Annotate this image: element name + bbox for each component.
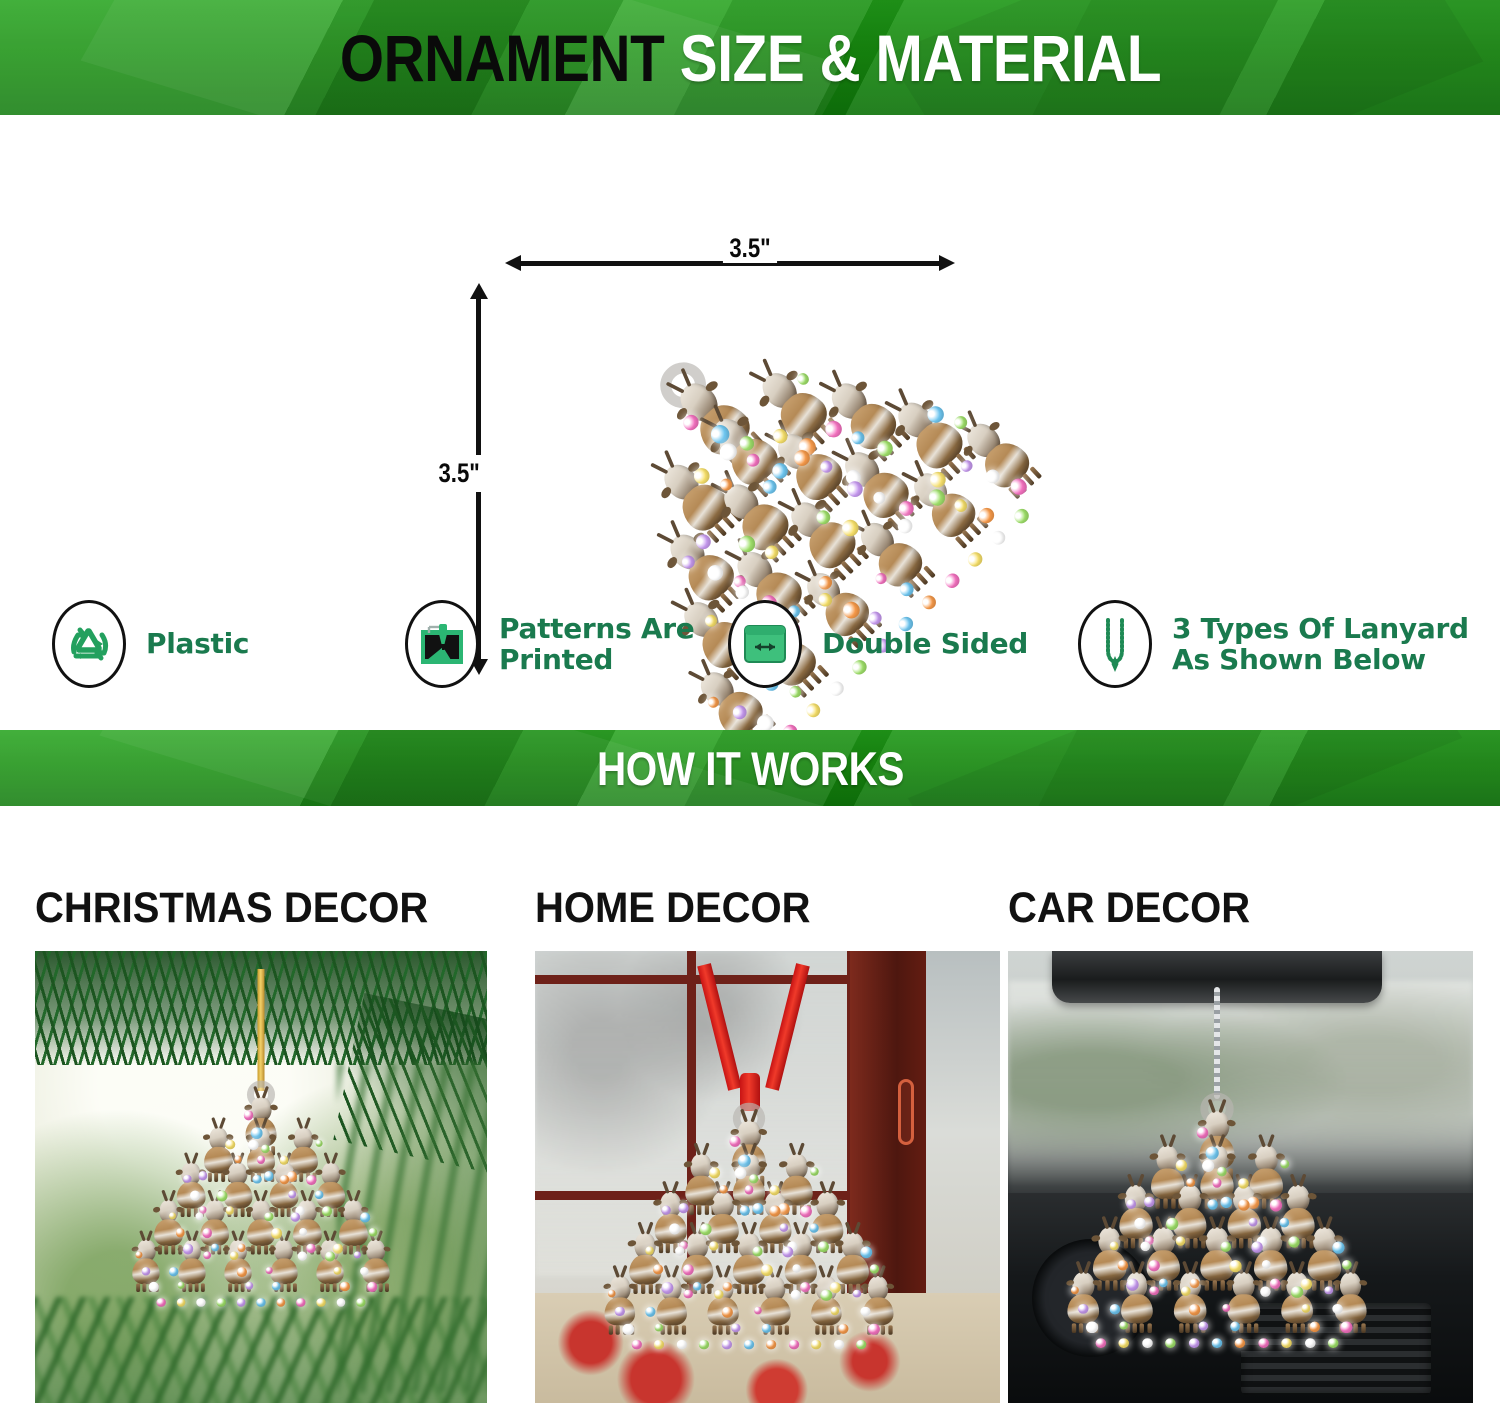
- goat-leg: [969, 522, 982, 535]
- goat-ear-left: [153, 1206, 161, 1212]
- goat-leg: [280, 1283, 284, 1292]
- christmas-light-bulb: [722, 1282, 731, 1291]
- goat-horn-left: [1101, 1215, 1109, 1229]
- christmas-light-bulb: [1235, 1338, 1245, 1348]
- goat-leg: [385, 1283, 389, 1292]
- goat-leg: [1262, 1198, 1266, 1208]
- goat-leg: [1163, 1198, 1167, 1208]
- christmas-light-bulb: [1291, 1286, 1303, 1298]
- gold-cord-hanger: [258, 969, 265, 1091]
- goat-ear-right: [731, 1283, 740, 1290]
- goat-horn-left: [161, 1190, 168, 1202]
- christmas-light-bulb: [818, 1241, 829, 1252]
- goat-leg: [615, 1325, 619, 1335]
- christmas-light-bulb: [1332, 1242, 1344, 1254]
- goat-horn-left: [139, 1230, 146, 1241]
- christmas-light-bulb: [237, 1244, 245, 1252]
- goat-ear-left: [809, 1283, 818, 1290]
- christmas-light-bulb: [821, 1289, 832, 1300]
- christmas-light-bulb: [1159, 1278, 1168, 1287]
- christmas-light-bulb: [1229, 1260, 1241, 1272]
- goat-horn-left: [664, 1265, 671, 1278]
- goat-leg: [241, 1283, 245, 1292]
- christmas-light-bulb: [369, 1228, 377, 1236]
- goat-horn-left: [1209, 1215, 1217, 1229]
- goat-horn-left: [749, 371, 767, 383]
- feature-plastic-label: Plastic: [146, 628, 249, 659]
- goat-ear-left: [705, 1199, 714, 1206]
- goat-leg: [1193, 1238, 1197, 1248]
- goat-horn-left: [231, 1230, 238, 1241]
- goat-leg: [1131, 1238, 1135, 1248]
- christmas-light-bulb: [789, 1339, 799, 1349]
- christmas-light-bulb: [288, 1191, 295, 1198]
- christmas-light-bulb: [1119, 1338, 1129, 1348]
- goat-horn-right: [797, 1142, 805, 1155]
- christmas-light-bulb: [761, 1323, 771, 1333]
- goat-ear-left: [1149, 1153, 1159, 1161]
- goat-ear-right: [813, 498, 827, 511]
- banner-size-material-title: ORNAMENTSIZE & MATERIAL: [339, 20, 1160, 96]
- goat-horn-left: [689, 1221, 697, 1234]
- christmas-light-bulb: [367, 1282, 377, 1292]
- card-car-decor: CAR DECOR: [1008, 884, 1473, 1403]
- goat-leg: [690, 1205, 694, 1215]
- goat-horn-right: [671, 1180, 679, 1193]
- goat-ear-right: [1359, 1279, 1368, 1286]
- goat-horn-right: [354, 1190, 361, 1202]
- goat-leg: [641, 1284, 645, 1294]
- goat-leg: [1247, 1323, 1251, 1333]
- goat-leg: [1240, 1238, 1244, 1248]
- goat-horn-left: [741, 1221, 749, 1234]
- recycle-icon: [52, 600, 126, 688]
- banner-how-it-works: HOW IT WORKS: [0, 730, 1500, 806]
- card-home-decor-title: HOME DECOR: [535, 884, 967, 933]
- christmas-light-bulb: [217, 1298, 226, 1307]
- christmas-light-bulb: [177, 1282, 184, 1289]
- christmas-light-bulb: [360, 1267, 369, 1276]
- christmas-light-bulb: [176, 1228, 185, 1237]
- christmas-light-bulb: [734, 1168, 746, 1180]
- goat-leg: [280, 1208, 284, 1217]
- christmas-light-bulb: [225, 1140, 235, 1150]
- goat-leg: [1254, 1323, 1258, 1333]
- goat-horn-left: [818, 382, 836, 394]
- goat-horn-left: [184, 1152, 191, 1164]
- christmas-light-bulb: [264, 1171, 274, 1181]
- christmas-light-bulb: [1190, 1278, 1200, 1288]
- goat-leg: [948, 461, 961, 475]
- goat-leg: [719, 1325, 723, 1335]
- christmas-light-bulb: [1305, 1338, 1315, 1348]
- goat-leg: [171, 1245, 175, 1254]
- lanyard-icon: [1078, 600, 1152, 688]
- christmas-light-bulb: [1186, 1178, 1195, 1187]
- goat-ear-left: [1248, 1153, 1258, 1161]
- goat-leg: [714, 523, 727, 537]
- christmas-light-bulb: [740, 1206, 750, 1216]
- goat-body: [759, 1297, 790, 1326]
- christmas-light-bulb: [830, 1306, 839, 1315]
- christmas-light-bulb: [197, 1298, 206, 1307]
- christmas-light-bulb: [655, 1323, 663, 1331]
- christmas-light-bulb: [1328, 1338, 1338, 1348]
- christmas-light-bulb: [780, 1224, 788, 1232]
- goat-ear-right: [1227, 1119, 1237, 1127]
- christmas-light-bulb: [615, 1306, 625, 1316]
- christmas-light-bulb: [661, 1206, 670, 1215]
- goat-horn-left: [1127, 1173, 1135, 1187]
- christmas-light-bulb: [1189, 1338, 1199, 1348]
- goat-horn-left: [819, 1180, 827, 1193]
- goat-leg: [257, 1245, 261, 1254]
- goat-leg: [822, 1325, 826, 1335]
- card-christmas-decor: CHRISTMAS DECOR: [35, 884, 487, 1403]
- christmas-light-bulb: [198, 1171, 207, 1180]
- goat-ear-left: [810, 1199, 819, 1206]
- christmas-light-bulb: [766, 1339, 776, 1349]
- feature-plastic: Plastic: [52, 600, 249, 688]
- goat-ear-right: [245, 1169, 253, 1175]
- christmas-light-bulb: [722, 1306, 733, 1317]
- christmas-light-bulb: [860, 1306, 870, 1316]
- goat-horn-left: [651, 463, 669, 475]
- goat-ear-left: [1280, 1279, 1289, 1286]
- goat-ear-left: [706, 1283, 715, 1290]
- christmas-light-bulb: [217, 1191, 228, 1202]
- christmas-light-bulb: [237, 1267, 247, 1277]
- christmas-light-bulb: [679, 1203, 689, 1213]
- christmas-light-bulb: [149, 1282, 159, 1292]
- christmas-light-bulb: [760, 1264, 772, 1276]
- goat-horn-left: [844, 1221, 852, 1234]
- goat-leg: [1140, 1323, 1144, 1333]
- goat-leg: [831, 1243, 835, 1253]
- goat-ear-left: [222, 1169, 230, 1175]
- goat-ear-left: [1091, 1235, 1101, 1243]
- goat-leg: [333, 1283, 337, 1292]
- christmas-light-bulb: [336, 1298, 345, 1307]
- card-christmas-decor-title: CHRISTMAS DECOR: [35, 884, 455, 933]
- goat-ear-right: [1253, 1279, 1262, 1286]
- christmas-light-bulb: [800, 1282, 810, 1292]
- christmas-light-bulb: [251, 1127, 262, 1138]
- christmas-light-bulb: [296, 1298, 305, 1307]
- goat-ear-right: [731, 1199, 740, 1206]
- christmas-light-bulb: [234, 1155, 241, 1162]
- goat-ear-right: [1199, 1192, 1209, 1200]
- christmas-light-bulb: [942, 571, 962, 591]
- christmas-light-bulb: [1325, 1286, 1333, 1294]
- goat-ear-left: [203, 1134, 211, 1140]
- goat-leg: [648, 1284, 652, 1294]
- goat-ear-left: [315, 1169, 323, 1175]
- goat-leg: [1194, 1323, 1198, 1333]
- goat-horn-left: [1262, 1215, 1270, 1229]
- goat-ear-right: [783, 1283, 792, 1290]
- goat-horn-left: [1155, 1215, 1163, 1229]
- double-sided-icon: [728, 600, 802, 688]
- goat-leg: [299, 1173, 303, 1182]
- goat-ear-left: [1280, 1192, 1290, 1200]
- christmas-light-bulb: [790, 1289, 801, 1300]
- card-home-decor: HOME DECOR: [535, 884, 1000, 1403]
- goat-horn-right: [1267, 1134, 1275, 1148]
- goat-leg: [214, 1173, 218, 1182]
- christmas-light-bulb: [1166, 1218, 1178, 1230]
- goat-leg: [1186, 1323, 1190, 1333]
- goat-ear-left: [245, 1206, 253, 1212]
- goat-leg: [718, 1243, 722, 1253]
- christmas-light-bulb: [203, 1251, 211, 1259]
- christmas-light-bulb: [1199, 1321, 1208, 1330]
- feature-double-sided-label: Double Sided: [822, 628, 1028, 659]
- christmas-light-bulb: [1343, 1260, 1353, 1270]
- goat-ear-right: [176, 1206, 184, 1212]
- christmas-light-bulb: [353, 1251, 360, 1258]
- christmas-light-bulb: [202, 1228, 212, 1238]
- goat-ear-right: [628, 1283, 637, 1290]
- goat-horn-right: [1218, 1215, 1226, 1229]
- christmas-light-bulb: [731, 1323, 740, 1332]
- goat-leg: [1185, 1238, 1189, 1248]
- christmas-light-bulb: [1142, 1338, 1152, 1348]
- goat-horn-left: [612, 1265, 619, 1278]
- christmas-light-bulb: [860, 1247, 872, 1259]
- goat-leg: [785, 1325, 789, 1335]
- christmas-light-bulb: [752, 1203, 763, 1214]
- christmas-light-bulb: [853, 1289, 861, 1297]
- banner-how-it-works-title: HOW IT WORKS: [597, 741, 904, 796]
- goat-ear-left: [861, 1283, 870, 1290]
- goat-horn-right: [238, 1230, 245, 1241]
- goat-ear-right: [746, 480, 760, 493]
- goat-ear-right: [988, 420, 1002, 432]
- goat-horn-right: [330, 1230, 337, 1241]
- goat-horn-right: [1244, 1261, 1252, 1274]
- goat-horn-right: [1191, 1261, 1199, 1274]
- goat-horn-right: [670, 520, 681, 538]
- christmas-light-bulb: [675, 1247, 684, 1256]
- goat-leg: [726, 1243, 730, 1253]
- goat-leg: [1079, 1323, 1083, 1333]
- goat-leg: [188, 1283, 192, 1292]
- goat-ear-left: [683, 1161, 692, 1168]
- dimension-diagram: 3.5" 3.5": [0, 115, 1500, 585]
- banner-word-size-material: SIZE & MATERIAL: [679, 21, 1160, 95]
- goat-leg: [1221, 1280, 1225, 1290]
- goat-horn-right: [1325, 1215, 1333, 1229]
- goat-leg: [187, 1208, 191, 1217]
- goat-ear-left: [1199, 1235, 1209, 1243]
- goat-leg: [752, 1284, 756, 1294]
- christmas-light-bulb: [340, 1282, 349, 1291]
- feature-patterns-printed: Patterns Are Printed: [405, 600, 705, 688]
- goat-horn-left: [1316, 1215, 1324, 1229]
- goat-horn-left: [637, 1221, 645, 1234]
- feature-double-sided: Double Sided: [728, 600, 1028, 688]
- goat-horn-right: [828, 1180, 836, 1193]
- goat-horn-right: [304, 1117, 311, 1129]
- christmas-light-bulb: [307, 1244, 316, 1253]
- goat-ear-left: [652, 1199, 661, 1206]
- goat-leg: [234, 1208, 238, 1217]
- goat-horn-left: [346, 1190, 353, 1202]
- goat-leg: [1133, 1323, 1137, 1333]
- christmas-light-bulb: [1086, 1321, 1098, 1333]
- christmas-light-bulb: [654, 1339, 664, 1349]
- goat-horn-left: [656, 533, 674, 545]
- goat-ear-right: [383, 1246, 391, 1252]
- feature-patterns-printed-label: Patterns Are Printed: [499, 613, 694, 676]
- goat-horn-left: [185, 1230, 192, 1241]
- goat-leg: [349, 1245, 353, 1254]
- goat-leg: [667, 1325, 671, 1335]
- christmas-light-bulb: [1221, 1197, 1232, 1208]
- christmas-light-bulb: [607, 1289, 615, 1297]
- christmas-light-bulb: [183, 1244, 194, 1255]
- goat-ear-right: [1199, 1279, 1208, 1286]
- goat-body: [656, 1297, 687, 1326]
- goat-ear-left: [962, 444, 975, 458]
- christmas-light-bulb: [265, 1267, 272, 1274]
- christmas-light-bulb: [333, 1244, 343, 1254]
- feature-lanyard-types: 3 Types Of Lanyard As Shown Below: [1078, 600, 1488, 688]
- christmas-light-bulb: [1280, 1160, 1289, 1169]
- goat-ear-left: [1226, 1279, 1235, 1286]
- christmas-light-bulb: [834, 1339, 844, 1349]
- width-dimension-label: 3.5": [135, 233, 1365, 264]
- goat-horn-right: [672, 1265, 679, 1278]
- goat-horn-right: [878, 1265, 885, 1278]
- goat-horn-right: [801, 1221, 809, 1234]
- goat-body: [270, 1258, 298, 1283]
- height-dimension-label: 3.5": [435, 455, 483, 492]
- feature-line-1: Patterns Are: [499, 613, 694, 644]
- photo-christmas-decor: [35, 951, 487, 1403]
- goat-ear-right: [154, 1246, 162, 1252]
- goat-horn-right: [763, 358, 774, 376]
- christmas-light-bulb: [856, 1339, 866, 1349]
- goat-horn-left: [818, 1265, 825, 1278]
- goat-leg: [1213, 1280, 1217, 1290]
- goat-body: [1121, 1294, 1153, 1324]
- goat-ear-left: [835, 1240, 844, 1247]
- goat-ear-right: [735, 415, 749, 428]
- christmas-light-bulb: [719, 1185, 727, 1193]
- goat-horn-left: [693, 1142, 701, 1155]
- christmas-light-bulb: [211, 1244, 218, 1251]
- goat-horn-right: [1298, 1261, 1306, 1274]
- goat-leg: [916, 572, 929, 585]
- christmas-light-bulb: [738, 1155, 751, 1168]
- feature-lanyard-label: 3 Types Of Lanyard As Shown Below: [1172, 613, 1469, 676]
- goat-horn-right: [308, 1190, 315, 1202]
- goat-leg: [682, 1325, 686, 1335]
- goat-ear-right: [1119, 1235, 1129, 1243]
- goat-leg: [1148, 1323, 1152, 1333]
- christmas-light-bulb: [1166, 1338, 1176, 1348]
- goat-leg: [770, 1243, 774, 1253]
- goat-horn-right: [775, 1265, 782, 1278]
- goat-leg: [208, 1173, 212, 1182]
- goat-horn-left: [788, 1142, 796, 1155]
- christmas-light-bulb: [1258, 1338, 1268, 1348]
- goat-leg: [378, 1283, 382, 1292]
- christmas-light-bulb: [177, 1298, 186, 1307]
- christmas-light-bulb: [322, 1206, 332, 1216]
- goat-horn-left: [254, 1190, 261, 1202]
- goat-ear-left: [779, 1161, 788, 1168]
- goat-horn-right: [1351, 1261, 1359, 1274]
- christmas-light-bulb: [838, 1323, 849, 1334]
- goat-horn-left: [211, 1117, 218, 1129]
- goat-tree-ornament-art: [136, 1079, 386, 1313]
- goat-leg: [1301, 1323, 1305, 1333]
- goat-leg: [1361, 1323, 1365, 1333]
- goat-leg: [848, 1284, 852, 1294]
- christmas-light-bulb: [729, 1136, 740, 1147]
- goat-leg: [697, 1205, 701, 1215]
- christmas-light-bulb: [325, 1251, 335, 1261]
- goat-horn-left: [300, 1190, 307, 1202]
- goat-tree-ornament-art: [609, 1101, 890, 1356]
- goat-leg: [1072, 1323, 1076, 1333]
- christmas-light-bulb: [333, 1267, 341, 1275]
- goat-ear-left: [659, 486, 672, 500]
- photo-car-decor: [1008, 951, 1473, 1403]
- goat-leg: [674, 1325, 678, 1335]
- goat-ear-left: [337, 1206, 345, 1212]
- goat-leg: [136, 1283, 140, 1292]
- goat-ear-left: [1306, 1235, 1316, 1243]
- christmas-light-bulb: [800, 1206, 812, 1218]
- bead-chain-hanger: [1214, 987, 1220, 1099]
- goat-horn-right: [723, 1265, 730, 1278]
- christmas-light-bulb: [792, 1264, 800, 1272]
- christmas-light-bulb: [868, 1323, 879, 1334]
- christmas-light-bulb: [190, 1191, 200, 1201]
- goat-horn-right: [376, 1230, 383, 1241]
- goat-ear-right: [882, 519, 896, 531]
- christmas-light-bulb: [257, 1298, 266, 1307]
- christmas-light-bulb: [965, 549, 985, 569]
- goat-leg: [1156, 1198, 1160, 1208]
- christmas-light-bulb: [1309, 1321, 1320, 1332]
- christmas-light-bulb: [248, 1140, 259, 1151]
- christmas-light-bulb: [1197, 1127, 1208, 1138]
- christmas-light-bulb: [989, 528, 1009, 548]
- goat-ear-left: [1173, 1279, 1182, 1286]
- christmas-light-bulb: [276, 1298, 285, 1307]
- christmas-light-bulb: [699, 1339, 709, 1349]
- goat-leg: [888, 1325, 892, 1335]
- christmas-light-bulb: [264, 1212, 273, 1221]
- goat-ear-right: [245, 1246, 253, 1252]
- goat-leg: [961, 529, 974, 542]
- goat-horn-left: [324, 1152, 331, 1164]
- goat-horn-left: [208, 1190, 215, 1202]
- goat-horn-right: [664, 450, 675, 468]
- banner-size-material: ORNAMENTSIZE & MATERIAL: [0, 0, 1500, 115]
- christmas-light-bulb: [157, 1298, 166, 1307]
- goat-horn-right: [620, 1265, 627, 1278]
- christmas-light-bulb: [623, 1323, 634, 1334]
- goat-leg: [827, 492, 840, 506]
- christmas-light-bulb: [1212, 1338, 1222, 1348]
- goat-leg: [142, 1283, 146, 1292]
